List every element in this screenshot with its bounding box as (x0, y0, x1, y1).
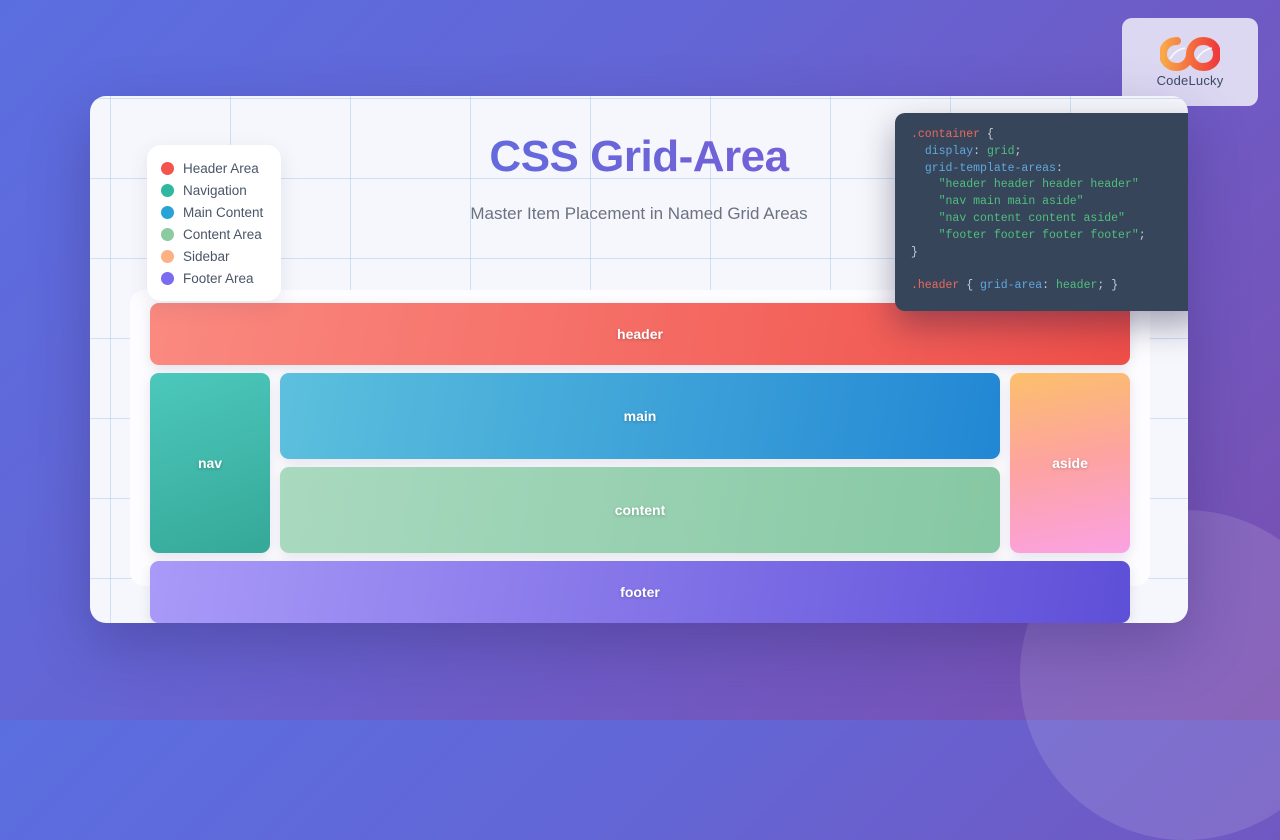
brand-name: CodeLucky (1157, 73, 1224, 88)
code-token: ; (1015, 145, 1022, 158)
code-token: { (980, 128, 994, 141)
code-token: "header header header header" (939, 178, 1139, 191)
legend-color-dot-icon (161, 228, 174, 241)
grid-area-block-aside: aside (1010, 373, 1130, 553)
code-token: grid-template-areas (925, 162, 1056, 175)
legend-item: Main Content (161, 201, 263, 223)
code-token: ; } (1097, 279, 1118, 292)
legend-item-label: Main Content (183, 205, 263, 220)
code-token: ; (1139, 229, 1146, 242)
legend-item-label: Sidebar (183, 249, 230, 264)
code-token: "nav main main aside" (939, 195, 1084, 208)
legend-card: Header AreaNavigationMain ContentContent… (147, 145, 281, 301)
main-card: CSS Grid-Area Master Item Placement in N… (90, 96, 1188, 623)
code-line: "nav content content aside" (911, 211, 1188, 228)
code-line: "header header header header" (911, 177, 1188, 194)
code-snippet-panel: .container { display: grid; grid-templat… (895, 113, 1188, 311)
code-token: .header (911, 279, 959, 292)
code-token: .container (911, 128, 980, 141)
brand-badge: CodeLucky (1122, 18, 1258, 106)
code-token: header (1056, 279, 1097, 292)
legend-item-label: Navigation (183, 183, 247, 198)
infinity-leaf-icon (1160, 37, 1220, 71)
code-token (911, 229, 939, 242)
code-token: display (925, 145, 973, 158)
code-line: "footer footer footer footer"; (911, 228, 1188, 245)
code-line: .container { (911, 127, 1188, 144)
code-token: : (1056, 162, 1063, 175)
legend-item-label: Footer Area (183, 271, 254, 286)
legend-color-dot-icon (161, 250, 174, 263)
code-token (911, 195, 939, 208)
grid-area-block-header: header (150, 303, 1130, 365)
code-token (911, 178, 939, 191)
legend-color-dot-icon (161, 162, 174, 175)
grid-area-block-content: content (280, 467, 1000, 553)
legend-item: Content Area (161, 223, 263, 245)
grid-area-block-nav: nav (150, 373, 270, 553)
legend-color-dot-icon (161, 272, 174, 285)
code-token (911, 162, 925, 175)
code-line (911, 261, 1188, 278)
legend-item-label: Content Area (183, 227, 262, 242)
grid-area-block-main: main (280, 373, 1000, 459)
code-token (911, 212, 939, 225)
grid-areas-demo: headernavmaincontentasidefooter (150, 303, 1130, 623)
grid-area-block-footer: footer (150, 561, 1130, 623)
legend-item: Header Area (161, 157, 263, 179)
code-line: grid-template-areas: (911, 161, 1188, 178)
code-token: : (973, 145, 987, 158)
legend-color-dot-icon (161, 184, 174, 197)
code-token: grid-area (980, 279, 1042, 292)
code-token: { (959, 279, 980, 292)
code-token: "nav content content aside" (939, 212, 1125, 225)
legend-item-label: Header Area (183, 161, 259, 176)
code-token: "footer footer footer footer" (939, 229, 1139, 242)
code-token: grid (987, 145, 1015, 158)
legend-color-dot-icon (161, 206, 174, 219)
legend-item: Navigation (161, 179, 263, 201)
code-token (911, 145, 925, 158)
legend-item: Sidebar (161, 245, 263, 267)
code-line: } (911, 245, 1188, 262)
code-token: : (1042, 279, 1056, 292)
legend-item: Footer Area (161, 267, 263, 289)
code-token: } (911, 246, 918, 259)
code-line: display: grid; (911, 144, 1188, 161)
code-line: .header { grid-area: header; } (911, 278, 1188, 295)
code-line: "nav main main aside" (911, 194, 1188, 211)
